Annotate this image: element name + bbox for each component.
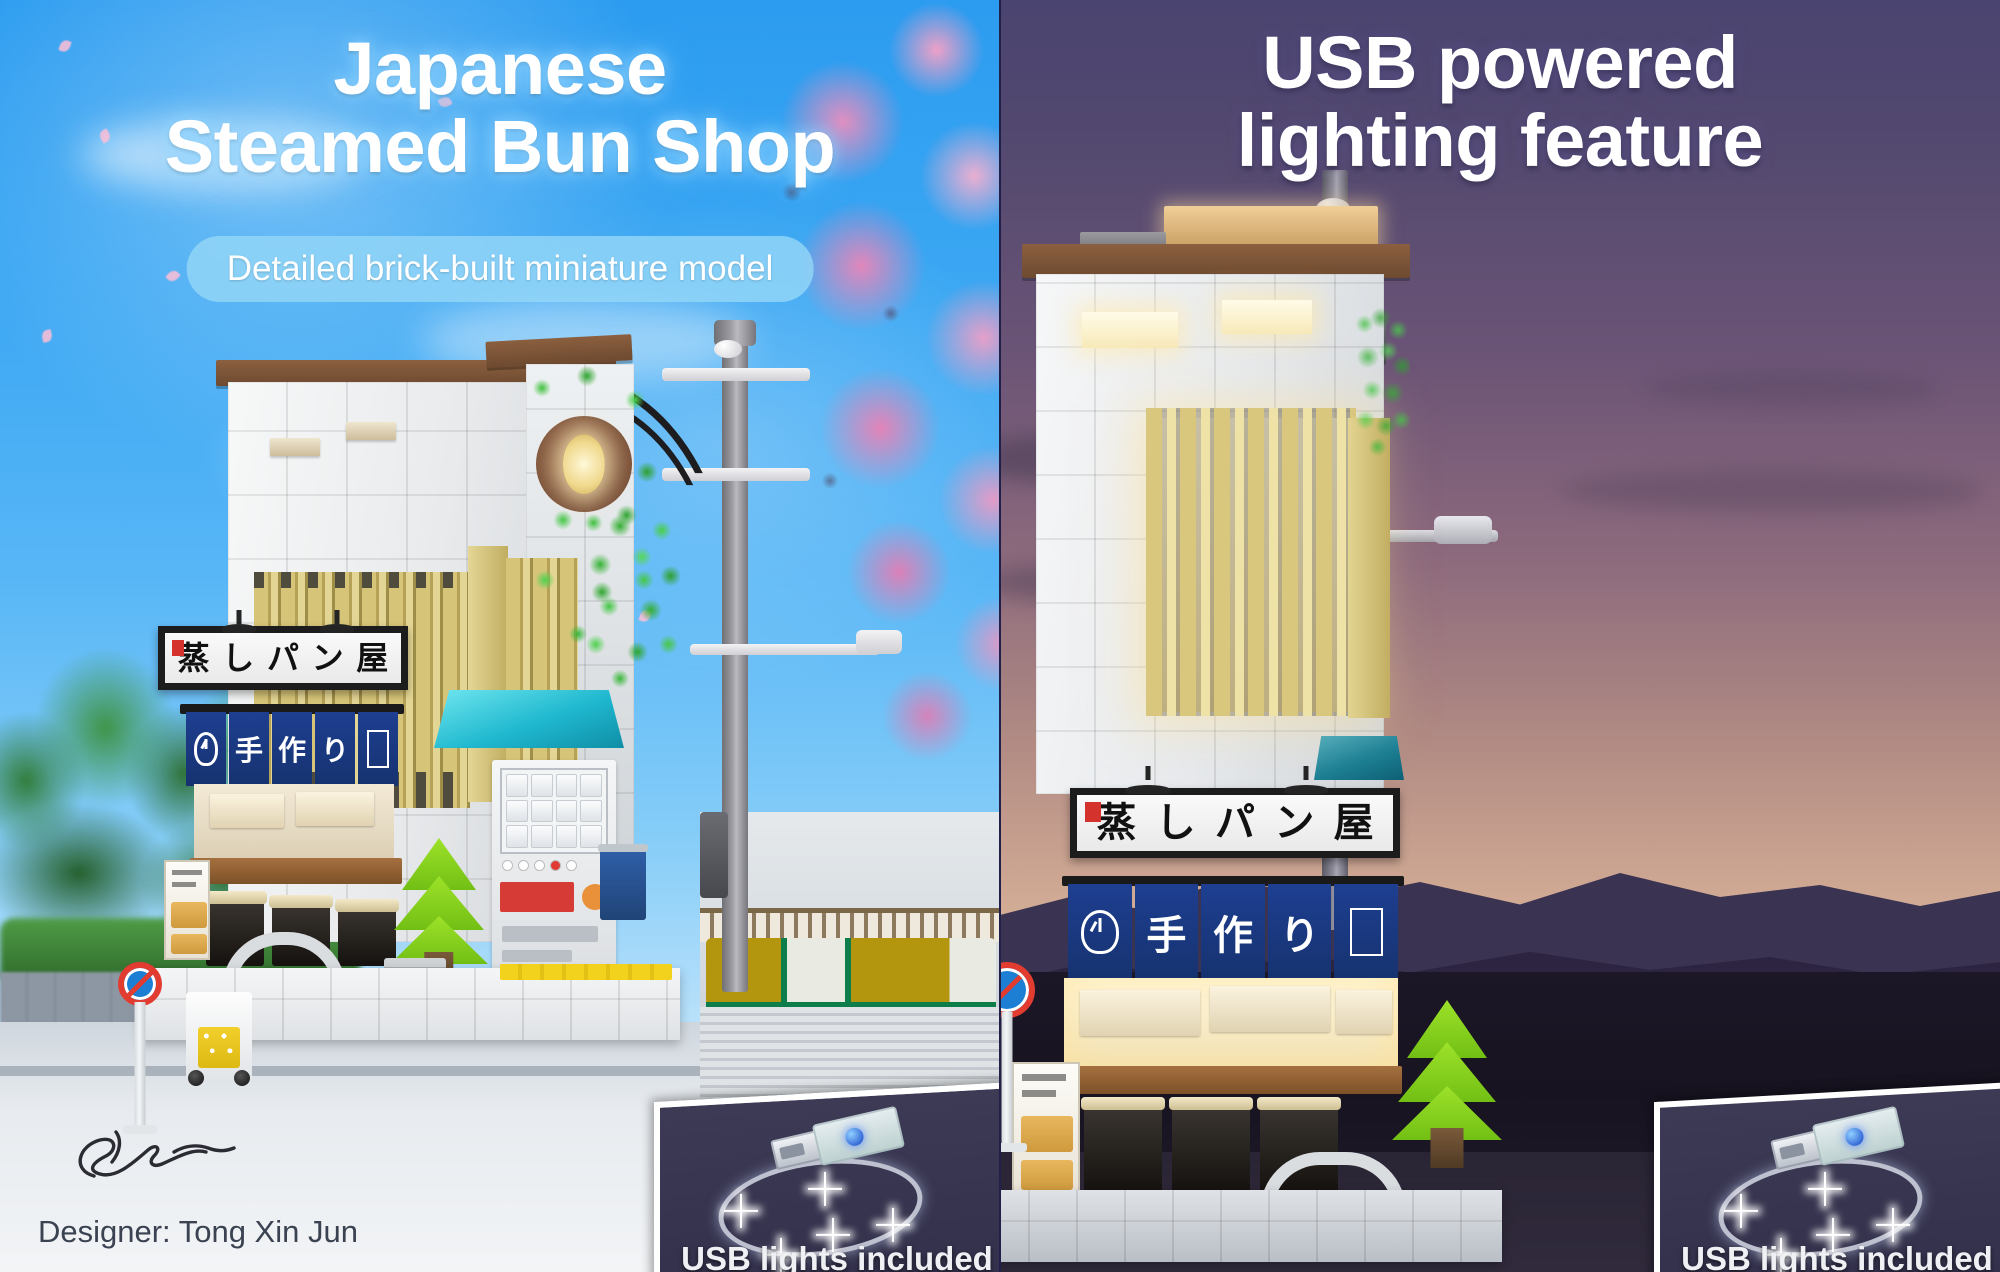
panel-day-scene: 蒸 し パ ン 屋 手 作 り [0, 0, 1000, 1272]
sign-lamp-icon [222, 610, 256, 633]
product-banner: 蒸 し パ ン 屋 手 作 り [0, 0, 2000, 1272]
sign-char-3: ン [312, 642, 344, 674]
noren-panel-1: 手 [229, 712, 269, 786]
shop-counter [1060, 1066, 1402, 1094]
no-parking-sign-icon [1000, 962, 1040, 1152]
usb-badge-label: USB lights included [1660, 1240, 2000, 1272]
noren-curtain: 手 作 り [186, 712, 398, 786]
bun-tray [1336, 990, 1392, 1034]
sign-char-3: ン [1274, 803, 1314, 843]
sign-char-1: し [222, 642, 254, 674]
model-building-night: 蒸 し パ ン 屋 手 作 り [1000, 200, 1380, 1170]
neighbour-awning [706, 938, 996, 1010]
no-parking-sign-icon [110, 962, 170, 1134]
title-line-2: lighting feature [1000, 102, 2000, 180]
model-building-day: 蒸 し パ ン 屋 手 作 り [200, 360, 650, 1160]
menu-board [164, 860, 210, 960]
subtitle-badge: Detailed brick-built miniature model [187, 236, 814, 302]
entrance-awning [434, 690, 624, 748]
bun-tray [210, 794, 284, 828]
pole-transformer [700, 812, 728, 898]
sign-char-0: 蒸 [1096, 803, 1136, 843]
title-line-1: USB powered [1000, 24, 2000, 102]
shop-signboard: 蒸 し パ ン 屋 [158, 626, 408, 690]
sign-lamp-icon [1126, 766, 1170, 794]
panel-night-scene: 蒸 し パ ン 屋 手 作 り [1000, 0, 2000, 1272]
shop-counter [190, 858, 402, 884]
steamer-basket [1172, 1106, 1250, 1192]
lego-tree [1392, 1000, 1502, 1168]
ivy-foliage [1356, 306, 1410, 456]
sign-char-4: 屋 [356, 642, 388, 674]
panel-divider [999, 0, 1001, 1272]
bun-icon [194, 732, 218, 766]
page-title-day: Japanese Steamed Bun Shop [0, 30, 1000, 187]
pole-insulator [714, 340, 742, 358]
steamer-basket [1084, 1106, 1162, 1192]
shop-signboard: 蒸 し パ ン 屋 [1070, 788, 1400, 858]
usb-badge-label: USB lights included [660, 1240, 1000, 1272]
sign-lamp-icon [320, 610, 354, 633]
sign-char-1: し [1156, 803, 1196, 843]
streetlight-head [856, 630, 902, 654]
usb-lights-badge-day: USB lights included [654, 1082, 1000, 1272]
bun-tray [296, 792, 374, 826]
sign-char-4: 屋 [1334, 803, 1374, 843]
title-line-1: Japanese [0, 30, 1000, 108]
noren-panel-1: 手 [1135, 884, 1199, 980]
upper-lit-window [1082, 312, 1178, 348]
wall-vent [346, 422, 396, 440]
noren-panel-2: 作 [1201, 884, 1265, 980]
streetlight-arm [690, 644, 880, 655]
noren-curtain: 手 作 り [1068, 884, 1398, 980]
sign-char-2: パ [1215, 803, 1255, 843]
round-window [536, 416, 632, 512]
slat-corner [1348, 418, 1390, 718]
sign-stamp-icon [1085, 802, 1101, 822]
blue-bin [600, 850, 646, 920]
base-plate [1000, 1190, 1502, 1262]
streetlight-head [1434, 516, 1492, 544]
designer-signature-icon [56, 1122, 276, 1192]
parked-scooter [186, 992, 252, 1080]
page-title-night: USB powered lighting feature [1000, 24, 2000, 181]
noren-panel-3: り [315, 712, 355, 786]
noren-panel-0 [1068, 884, 1132, 980]
ivy-foliage [576, 500, 686, 690]
noren-panel-3: り [1268, 884, 1332, 980]
bun-tray [1210, 986, 1330, 1032]
pole-crossarm [662, 368, 810, 381]
sign-stamp-icon [172, 640, 184, 656]
upper-lit-window [1222, 300, 1312, 334]
vending-machine [492, 760, 616, 978]
noren-panel-4 [358, 712, 398, 786]
bun-icon [1081, 910, 1119, 954]
roof-slab [1022, 244, 1410, 278]
noren-panel-2: 作 [272, 712, 312, 786]
sign-char-2: パ [267, 642, 299, 674]
bun-tray [1080, 990, 1200, 1036]
title-line-2: Steamed Bun Shop [0, 108, 1000, 186]
noren-panel-4 [1334, 884, 1398, 980]
usb-lights-badge-night: USB lights included [1654, 1082, 2000, 1272]
noren-panel-0 [186, 712, 226, 786]
wall-vent [270, 438, 320, 456]
slat-shadow [254, 572, 470, 588]
yellow-tactile-curb [500, 964, 672, 980]
slat-facade [1146, 408, 1356, 716]
entrance-awning [1314, 736, 1404, 780]
designer-label: Designer: Tong Xin Jun [38, 1214, 358, 1250]
